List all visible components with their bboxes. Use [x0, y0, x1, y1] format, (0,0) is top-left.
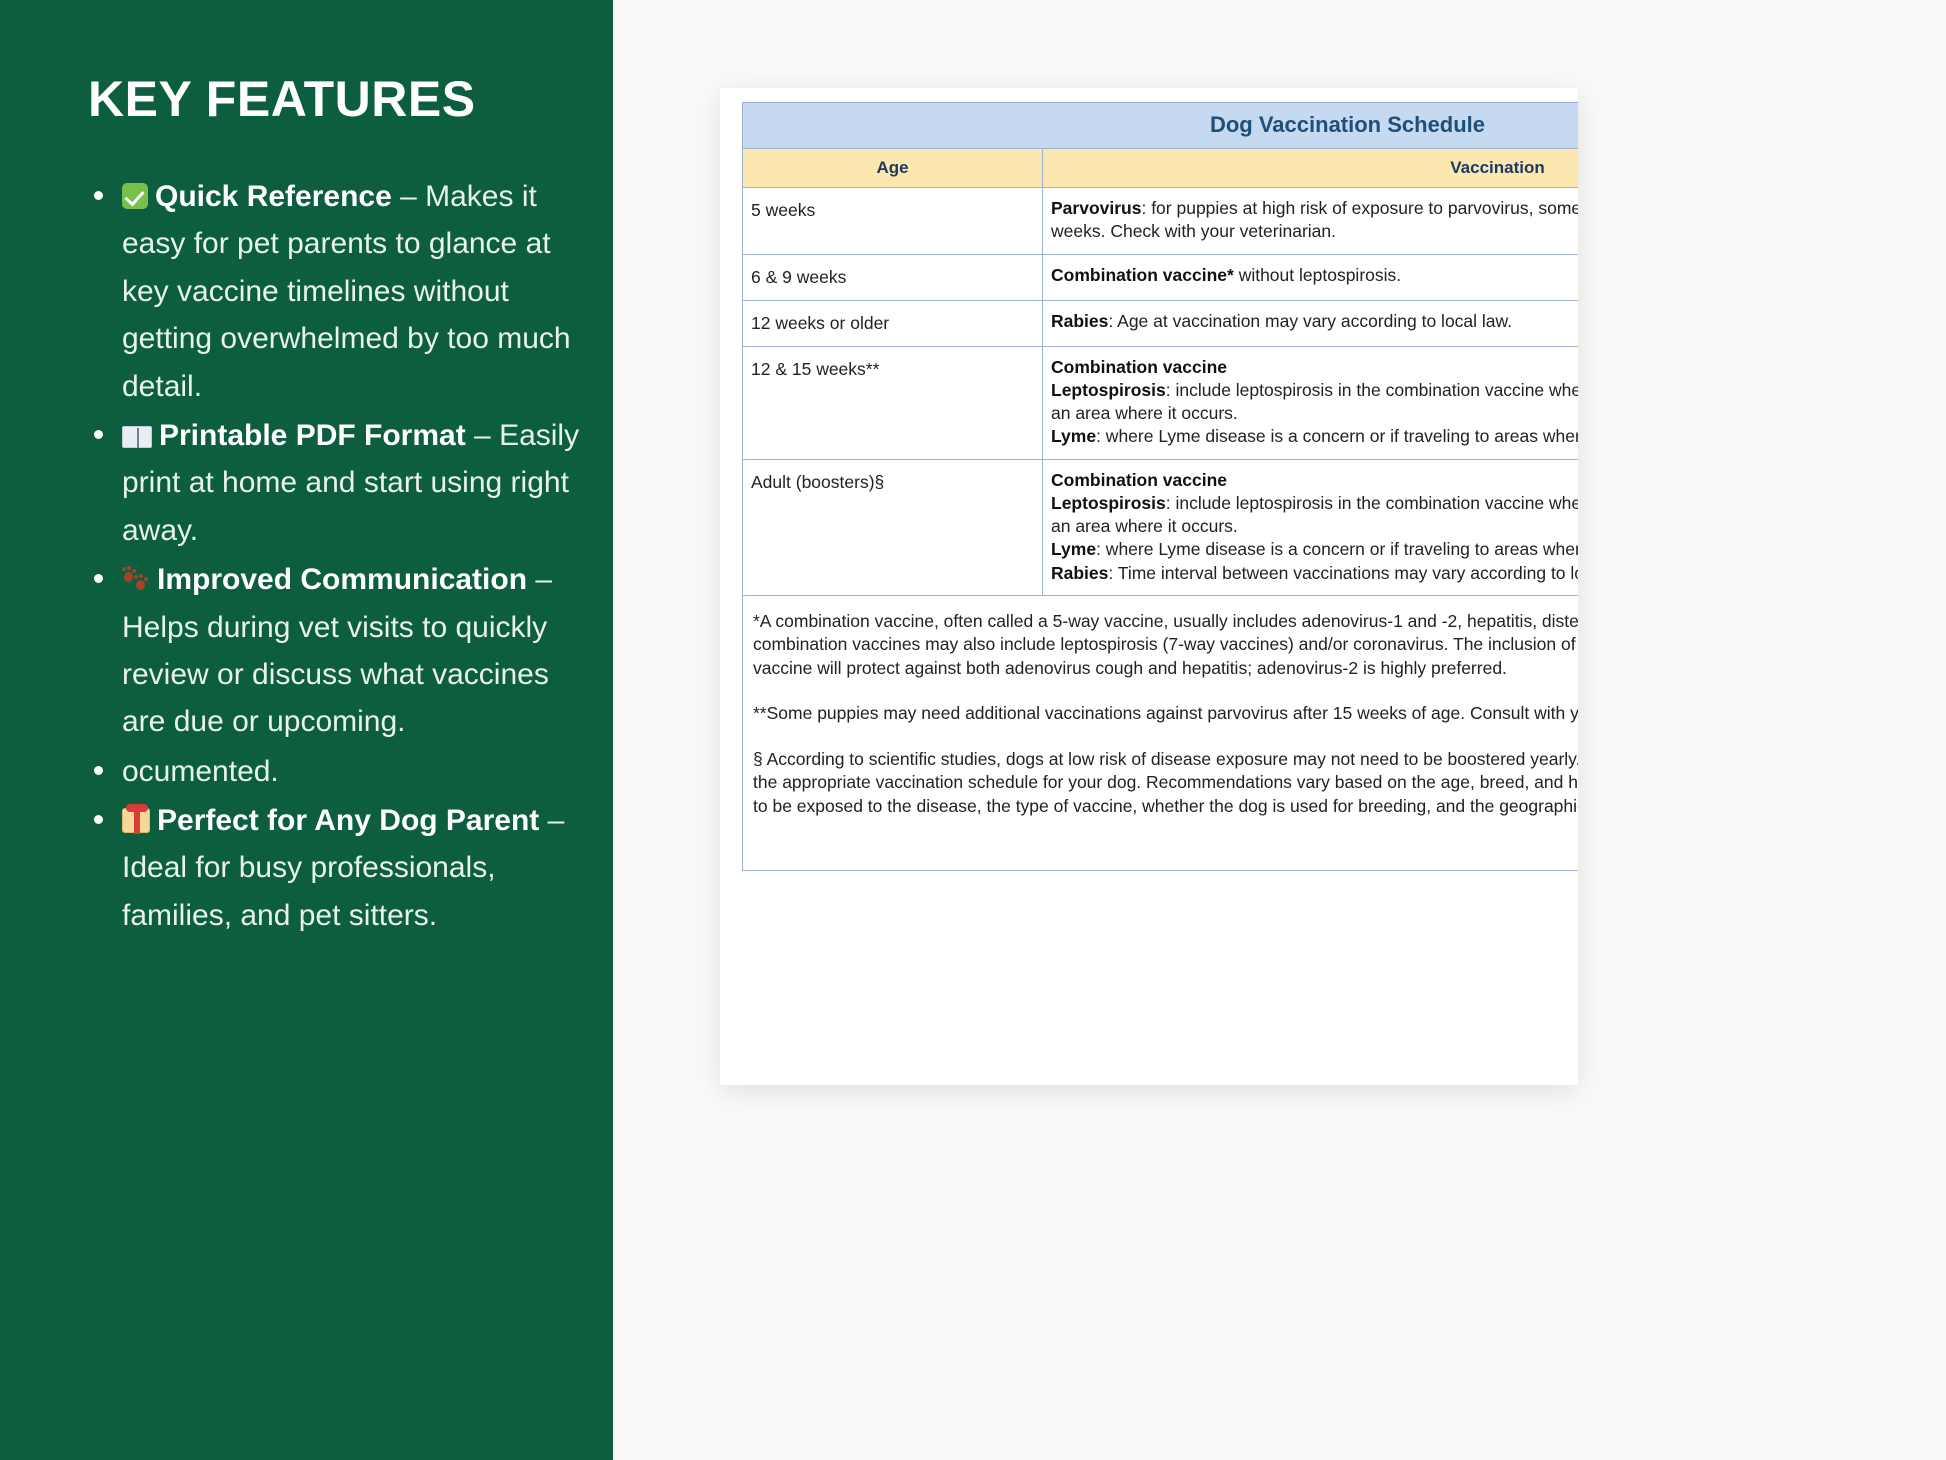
vaccination-schedule-table: Dog Vaccination Schedule Age Vaccination… [742, 102, 1578, 596]
vax-term: Combination vaccine* [1051, 265, 1234, 285]
feature-body: – Makes it easy for pet parents to glanc… [122, 180, 571, 403]
table-header-row: Age Vaccination [743, 149, 1579, 188]
bullet-icon [94, 815, 103, 824]
list-item: Improved Communication – Helps during ve… [88, 556, 583, 746]
bullet-icon [94, 574, 103, 583]
list-item: Printable PDF Format – Easily print at h… [88, 412, 583, 554]
vax-term: Rabies [1051, 311, 1108, 331]
feature-lead: Printable PDF Format [159, 419, 466, 452]
list-item: ocumented. [88, 748, 583, 795]
vax-detail: : where Lyme disease is a concern or if … [1096, 426, 1578, 446]
table-row: 12 weeks or older Rabies: Age at vaccina… [743, 300, 1579, 346]
vax-term: Lyme [1051, 539, 1096, 559]
cell-age: 12 & 15 weeks** [743, 346, 1043, 459]
cell-age: 6 & 9 weeks [743, 254, 1043, 300]
preview-area: Dog Vaccination Schedule Age Vaccination… [613, 0, 1946, 1460]
open-book-icon [122, 426, 152, 448]
footnote-asterisk: *A combination vaccine, often called a 5… [753, 610, 1578, 680]
cell-age: 5 weeks [743, 188, 1043, 255]
footnote-section-sign: § According to scientific studies, dogs … [753, 748, 1578, 818]
bullet-icon [94, 766, 103, 775]
slide-canvas: KEY FEATURES Quick Reference – Makes it … [0, 0, 1946, 1460]
cell-vaccination: Combination vaccine Leptospirosis: inclu… [1043, 346, 1579, 459]
cell-age: Adult (boosters)§ [743, 459, 1043, 595]
list-item: Perfect for Any Dog Parent – Ideal for b… [88, 797, 583, 939]
vax-detail: : Age at vaccination may vary according … [1108, 311, 1512, 331]
table-title-row: Dog Vaccination Schedule [743, 103, 1579, 149]
list-item: Quick Reference – Makes it easy for pet … [88, 173, 583, 410]
vax-term: Combination vaccine [1051, 470, 1227, 490]
feature-lead: Perfect for Any Dog Parent [157, 804, 539, 837]
feature-lead: Improved Communication [157, 563, 527, 596]
bullet-icon [94, 430, 103, 439]
footnotes-block: *A combination vaccine, often called a 5… [742, 596, 1578, 871]
document-page: Dog Vaccination Schedule Age Vaccination… [720, 102, 1578, 871]
cell-vaccination: Combination vaccine* without leptospiros… [1043, 254, 1579, 300]
vax-term: Parvovirus [1051, 198, 1141, 218]
white-heavy-check-mark-icon [122, 183, 148, 209]
page-title: KEY FEATURES [88, 72, 583, 127]
vax-term: Leptospirosis [1051, 380, 1166, 400]
column-header-age: Age [743, 149, 1043, 188]
document-preview-card[interactable]: Dog Vaccination Schedule Age Vaccination… [720, 88, 1578, 1085]
footnote-double-asterisk: **Some puppies may need additional vacci… [753, 702, 1578, 725]
feature-list: Quick Reference – Makes it easy for pet … [88, 173, 583, 939]
vax-detail: without leptospirosis. [1234, 265, 1401, 285]
feature-body: ocumented. [122, 755, 279, 788]
vax-term: Rabies [1051, 563, 1108, 583]
cell-vaccination: Rabies: Age at vaccination may vary acco… [1043, 300, 1579, 346]
wrapped-gift-icon [122, 808, 150, 833]
table-row: 6 & 9 weeks Combination vaccine* without… [743, 254, 1579, 300]
cell-vaccination: Parvovirus: for puppies at high risk of … [1043, 188, 1579, 255]
cell-vaccination: Combination vaccine Leptospirosis: inclu… [1043, 459, 1579, 595]
vax-detail: : Time interval between vaccinations may… [1108, 563, 1578, 583]
vax-detail: : where Lyme disease is a concern or if … [1096, 539, 1578, 559]
paw-prints-icon [122, 566, 150, 592]
bullet-icon [94, 191, 103, 200]
vax-term: Lyme [1051, 426, 1096, 446]
column-header-vaccination: Vaccination [1043, 149, 1579, 188]
table-title: Dog Vaccination Schedule [743, 103, 1579, 149]
table-row: 12 & 15 weeks** Combination vaccine Lept… [743, 346, 1579, 459]
table-row: 5 weeks Parvovirus: for puppies at high … [743, 188, 1579, 255]
key-features-panel: KEY FEATURES Quick Reference – Makes it … [0, 0, 613, 1460]
table-row: Adult (boosters)§ Combination vaccine Le… [743, 459, 1579, 595]
cell-age: 12 weeks or older [743, 300, 1043, 346]
vax-term: Leptospirosis [1051, 493, 1166, 513]
vax-term: Combination vaccine [1051, 357, 1227, 377]
feature-lead: Quick Reference [155, 180, 392, 213]
